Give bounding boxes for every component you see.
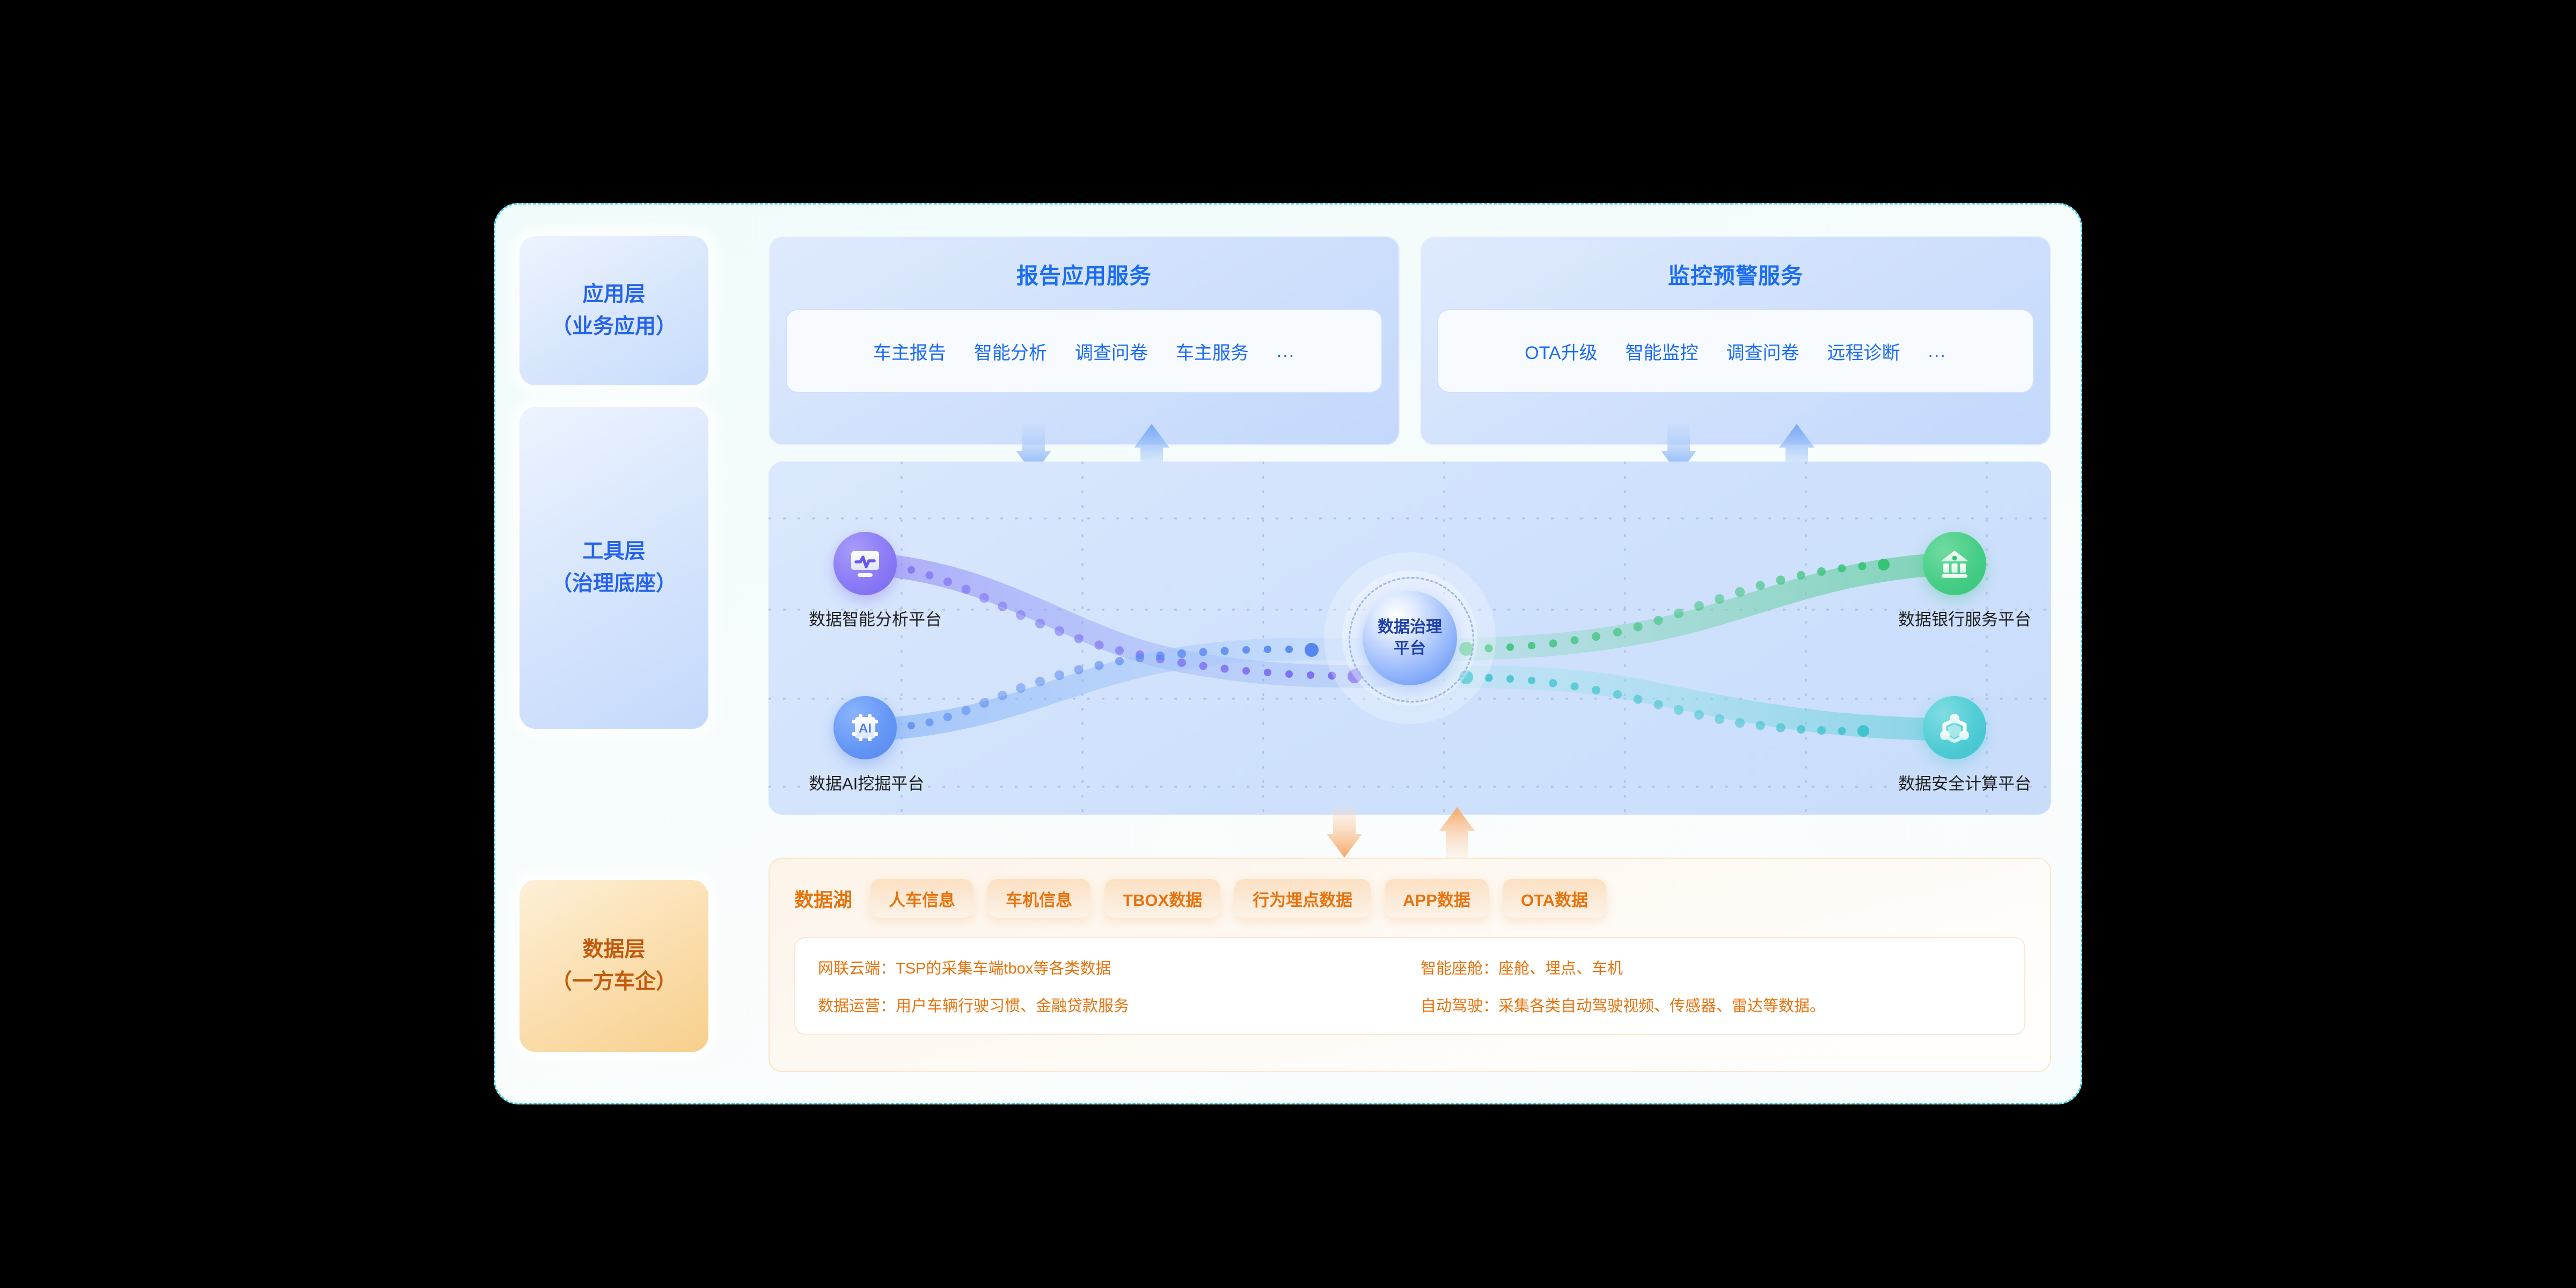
data-tag-ota[interactable]: OTA数据 [1503, 879, 1606, 918]
service-item-survey-2[interactable]: 调查问卷 [1726, 338, 1799, 364]
tool-node-bank[interactable]: 数据银行服务平台 [1898, 532, 2011, 630]
application-layer: 报告应用服务 车主报告 智能分析 调查问卷 车主服务 ... 监控预警服务 OT… [769, 236, 2051, 445]
service-card-report[interactable]: 报告应用服务 车主报告 智能分析 调查问卷 车主服务 ... [769, 236, 1400, 445]
tool-node-analysis[interactable]: 数据智能分析平台 [809, 532, 921, 630]
shield-network-icon [1923, 696, 1986, 759]
tool-node-secure[interactable]: 数据安全计算平台 [1898, 696, 2011, 794]
service-item-ota-upgrade[interactable]: OTA升级 [1525, 338, 1597, 364]
tool-node-secure-label: 数据安全计算平台 [1898, 770, 2011, 794]
data-lake-description: 网联云端：TSP的采集车端tbox等各类数据 数据运营：用户车辆行驶习惯、金融贷… [794, 937, 2025, 1035]
data-tag-tbox[interactable]: TBOX数据 [1104, 879, 1220, 918]
hub-core: 数据治理 平台 [1363, 591, 1457, 685]
desc-line-operation: 数据运营：用户车辆行驶习惯、金融贷款服务 [818, 993, 1399, 1016]
desc-line-cloud: 网联云端：TSP的采集车端tbox等各类数据 [818, 956, 1399, 978]
hub-label-line2: 平台 [1394, 638, 1426, 660]
arrow-down-data [1327, 807, 1362, 858]
service-item-survey[interactable]: 调查问卷 [1075, 338, 1148, 364]
layer-application-line2: （业务应用） [551, 311, 677, 343]
service-item-remote-diagnose[interactable]: 远程诊断 [1827, 338, 1900, 364]
service-item-more-monitor[interactable]: ... [1928, 341, 1946, 362]
service-item-more-report[interactable]: ... [1277, 341, 1295, 362]
layer-rail: 应用层 （业务应用） 工具层 （治理底座） 数据层 （一方车企） [519, 236, 708, 1079]
service-item-smart-monitor[interactable]: 智能监控 [1626, 338, 1699, 364]
layer-chip-data[interactable]: 数据层 （一方车企） [519, 880, 708, 1052]
hub-label-line1: 数据治理 [1378, 617, 1442, 638]
layer-tool-line2: （治理底座） [551, 568, 677, 600]
bank-icon [1923, 532, 1986, 595]
data-lake-desc-left: 网联云端：TSP的采集车端tbox等各类数据 数据运营：用户车辆行驶习惯、金融贷… [818, 956, 1399, 1015]
tool-node-ai[interactable]: AI 数据AI挖掘平台 [809, 696, 921, 794]
monitor-pulse-icon [833, 532, 897, 595]
svg-text:AI: AI [859, 721, 872, 736]
layer-data-line2: （一方车企） [551, 966, 677, 998]
layer-chip-tool[interactable]: 工具层 （治理底座） [519, 407, 708, 729]
service-item-owner-report[interactable]: 车主报告 [873, 338, 946, 364]
data-lake-tag-row: 数据湖 人车信息 车机信息 TBOX数据 行为埋点数据 APP数据 OTA数据 [794, 876, 2025, 921]
service-card-monitor-title: 监控预警服务 [1668, 258, 1803, 290]
tool-layer-board: 数据治理 平台 数据智能分析平台 [769, 462, 2051, 815]
service-card-report-title: 报告应用服务 [1016, 258, 1152, 290]
data-tag-behavior-point[interactable]: 行为埋点数据 [1234, 879, 1371, 918]
layer-data-line1: 数据层 [582, 934, 645, 966]
tool-node-analysis-label: 数据智能分析平台 [809, 606, 921, 630]
service-card-report-items: 车主报告 智能分析 调查问卷 车主服务 ... [786, 309, 1382, 393]
service-item-owner-service[interactable]: 车主服务 [1176, 338, 1249, 364]
desc-line-cockpit: 智能座舱：座舱、埋点、车机 [1421, 956, 2002, 978]
data-tag-person-vehicle[interactable]: 人车信息 [870, 879, 974, 918]
service-card-monitor[interactable]: 监控预警服务 OTA升级 智能监控 调查问卷 远程诊断 ... [1420, 236, 2051, 445]
tool-node-ai-label: 数据AI挖掘平台 [809, 770, 921, 794]
arrow-up-data [1439, 807, 1475, 858]
data-tag-app[interactable]: APP数据 [1385, 879, 1489, 918]
service-card-monitor-items: OTA升级 智能监控 调查问卷 远程诊断 ... [1437, 309, 2034, 393]
diagram-canvas: 应用层 （业务应用） 工具层 （治理底座） 数据层 （一方车企） 报告应用服务 … [0, 0, 2576, 1288]
desc-line-autodrive: 自动驾驶：采集各类自动驾驶视频、传感器、雷达等数据。 [1421, 993, 2002, 1016]
service-item-smart-analysis[interactable]: 智能分析 [974, 338, 1047, 364]
data-lake-panel: 数据湖 人车信息 车机信息 TBOX数据 行为埋点数据 APP数据 OTA数据 … [769, 858, 2051, 1072]
ai-chip-icon: AI [833, 696, 897, 759]
layer-tool-line1: 工具层 [582, 536, 645, 568]
data-lake-desc-right: 智能座舱：座舱、埋点、车机 自动驾驶：采集各类自动驾驶视频、传感器、雷达等数据。 [1421, 956, 2002, 1015]
data-tag-vehicle-machine[interactable]: 车机信息 [987, 879, 1091, 918]
central-hub[interactable]: 数据治理 平台 [1324, 552, 1496, 724]
layer-application-line1: 应用层 [582, 279, 645, 311]
data-lake-title: 数据湖 [794, 884, 852, 912]
layer-chip-application[interactable]: 应用层 （业务应用） [519, 236, 708, 385]
tool-node-bank-label: 数据银行服务平台 [1898, 606, 2011, 630]
